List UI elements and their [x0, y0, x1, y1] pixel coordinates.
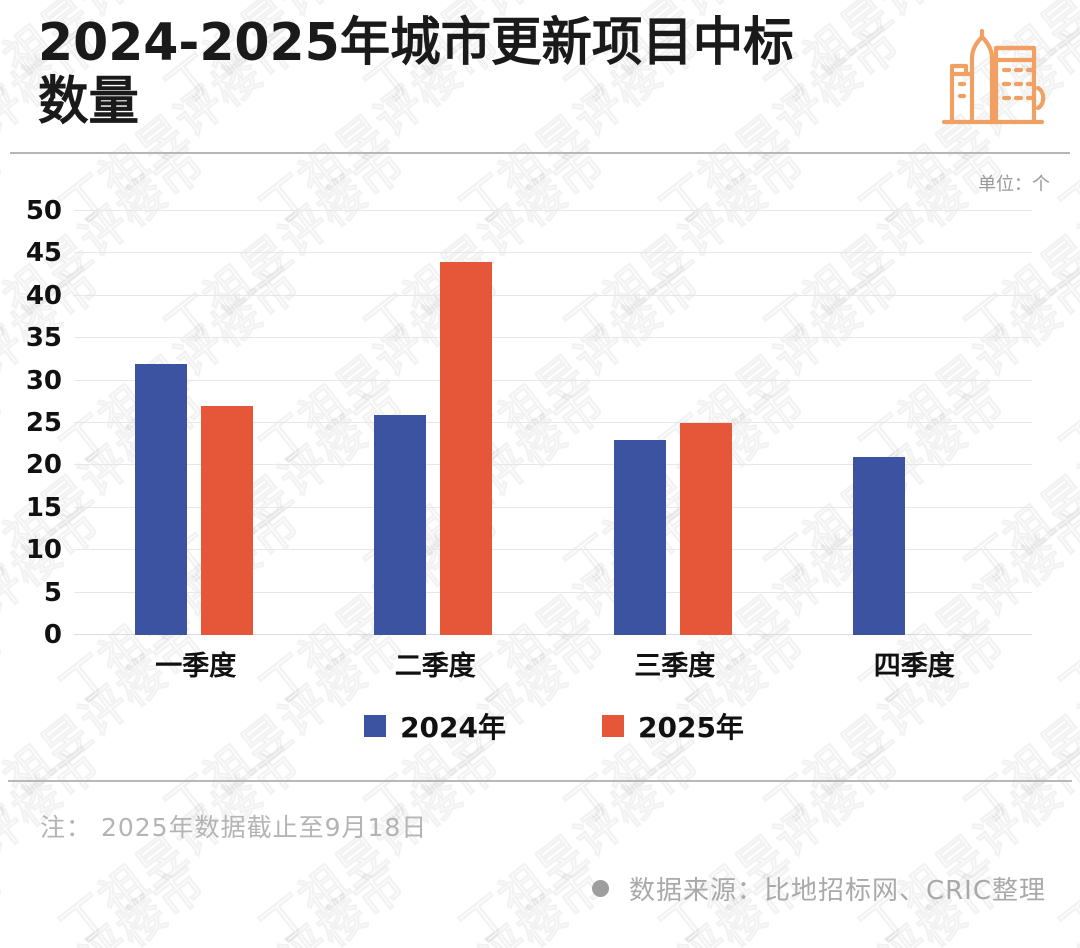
bar-2024年-四季度[interactable] [853, 457, 905, 635]
y-axis-tick-label: 40 [26, 283, 62, 309]
y-axis-tick-label: 45 [26, 240, 62, 266]
bar-group [553, 211, 793, 635]
y-axis-tick-label: 20 [26, 452, 62, 478]
x-axis-tick-label: 三季度 [553, 644, 793, 690]
legend-swatch-icon [364, 715, 386, 737]
bar-group [74, 211, 314, 635]
legend-item[interactable]: 2024年 [364, 706, 506, 746]
source-row: 数据来源：比地招标网、CRIC整理 [0, 844, 1080, 907]
chart-legend: 2024年2025年 [0, 698, 1080, 754]
y-axis-tick-label: 15 [26, 495, 62, 521]
footnote: 注： 2025年数据截止至9月18日 [0, 782, 1080, 844]
bar-2025年-二季度[interactable] [440, 262, 492, 635]
x-axis-tick-label: 二季度 [314, 644, 554, 690]
bar-2025年-一季度[interactable] [201, 406, 253, 635]
bar-2024年-三季度[interactable] [614, 440, 666, 635]
bar-2025年-三季度[interactable] [680, 423, 732, 635]
bar-chart: 05101520253035404550 一季度二季度三季度四季度 [0, 198, 1058, 698]
legend-item[interactable]: 2025年 [602, 706, 744, 746]
chart-header: 2024-2025年城市更新项目中标数量 [0, 0, 1080, 152]
y-axis-tick-label: 10 [26, 537, 62, 563]
y-axis-labels: 05101520253035404550 [0, 211, 62, 635]
y-axis-tick-label: 30 [26, 368, 62, 394]
legend-swatch-icon [602, 715, 624, 737]
x-axis-tick-label: 四季度 [793, 644, 1033, 690]
bullet-dot-icon [592, 880, 609, 897]
x-axis-labels: 一季度二季度三季度四季度 [74, 644, 1032, 690]
page-title: 2024-2025年城市更新项目中标数量 [38, 14, 843, 133]
legend-label: 2025年 [638, 706, 744, 746]
y-axis-tick-label: 25 [26, 410, 62, 436]
bar-group [793, 211, 1033, 635]
y-axis-tick-label: 5 [44, 580, 62, 606]
unit-label: 单位：个 [978, 174, 1050, 195]
bar-2024年-一季度[interactable] [135, 364, 187, 635]
bar-2024年-二季度[interactable] [374, 415, 426, 635]
legend-label: 2024年 [400, 706, 506, 746]
y-axis-tick-label: 35 [26, 325, 62, 351]
bar-groups [74, 211, 1032, 635]
city-buildings-icon [938, 22, 1046, 135]
source-label: 数据来源：比地招标网、CRIC整理 [629, 870, 1046, 907]
y-axis-tick-label: 50 [26, 198, 62, 224]
unit-row: 单位：个 [0, 154, 1080, 198]
bar-group [314, 211, 554, 635]
plot-area [74, 211, 1032, 635]
y-axis-tick-label: 0 [44, 622, 62, 648]
x-axis-tick-label: 一季度 [74, 644, 314, 690]
